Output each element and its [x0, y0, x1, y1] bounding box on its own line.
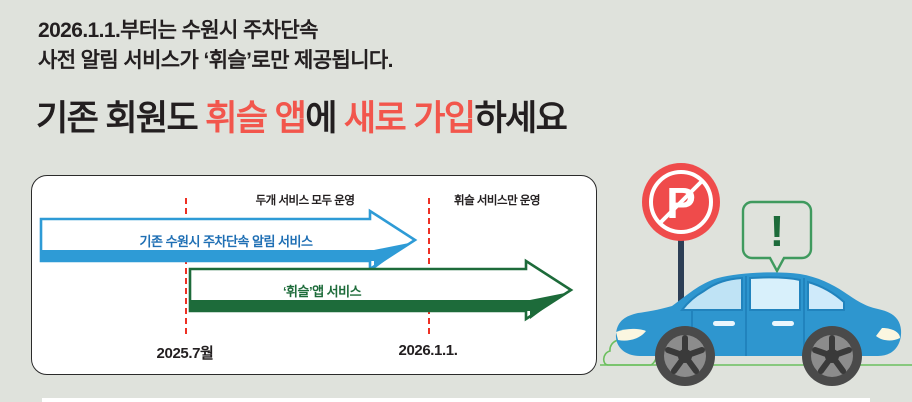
phase-label-whistle-only: 휘슬 서비스만 운영 — [454, 192, 540, 208]
date-label-switch: 2026.1.1. — [399, 342, 458, 359]
page-title: 기존 회원도 휘슬 앱에 새로 가입하세요 — [36, 100, 566, 139]
arrow-whistle-service — [190, 268, 572, 318]
date-label-start: 2025.7월 — [157, 342, 214, 363]
no-parking-sign-icon: P — [642, 163, 720, 241]
headline-highlight-signup: 새로 가입 — [344, 99, 475, 138]
next-section-strip — [42, 398, 870, 402]
wheel-front — [655, 326, 715, 386]
arrow-label-whistle-service: ‘휘슬’앱 서비스 — [283, 281, 361, 300]
poster-canvas: 2026.1.1.부터는 수원시 주차단속 사전 알림 서비스가 ‘휘슬’로만 … — [0, 0, 912, 402]
arrow-label-existing-service: 기존 수원시 주차단속 알림 서비스 — [140, 231, 313, 250]
door-handle-front — [713, 321, 735, 326]
subheadline: 2026.1.1.부터는 수원시 주차단속 사전 알림 서비스가 ‘휘슬’로만 … — [38, 16, 393, 76]
subheadline-line-2: 사전 알림 서비스가 ‘휘슬’로만 제공됩니다. — [38, 46, 393, 76]
phase-label-both-services: 두개 서비스 모두 운영 — [256, 192, 355, 208]
alert-mark: ! — [770, 207, 785, 256]
door-handle-rear — [772, 321, 794, 326]
headline-part-1: 기존 회원도 — [36, 99, 205, 138]
alert-bubble-icon: ! — [743, 202, 811, 271]
headline-highlight-app: 휘슬 앱 — [205, 99, 305, 138]
car-illustration: P ! — [600, 160, 912, 402]
headline-part-2: 에 — [305, 99, 344, 138]
subheadline-line-1: 2026.1.1.부터는 수원시 주차단속 — [38, 16, 393, 46]
headline-part-3: 하세요 — [474, 99, 566, 138]
wheel-rear — [802, 326, 862, 386]
